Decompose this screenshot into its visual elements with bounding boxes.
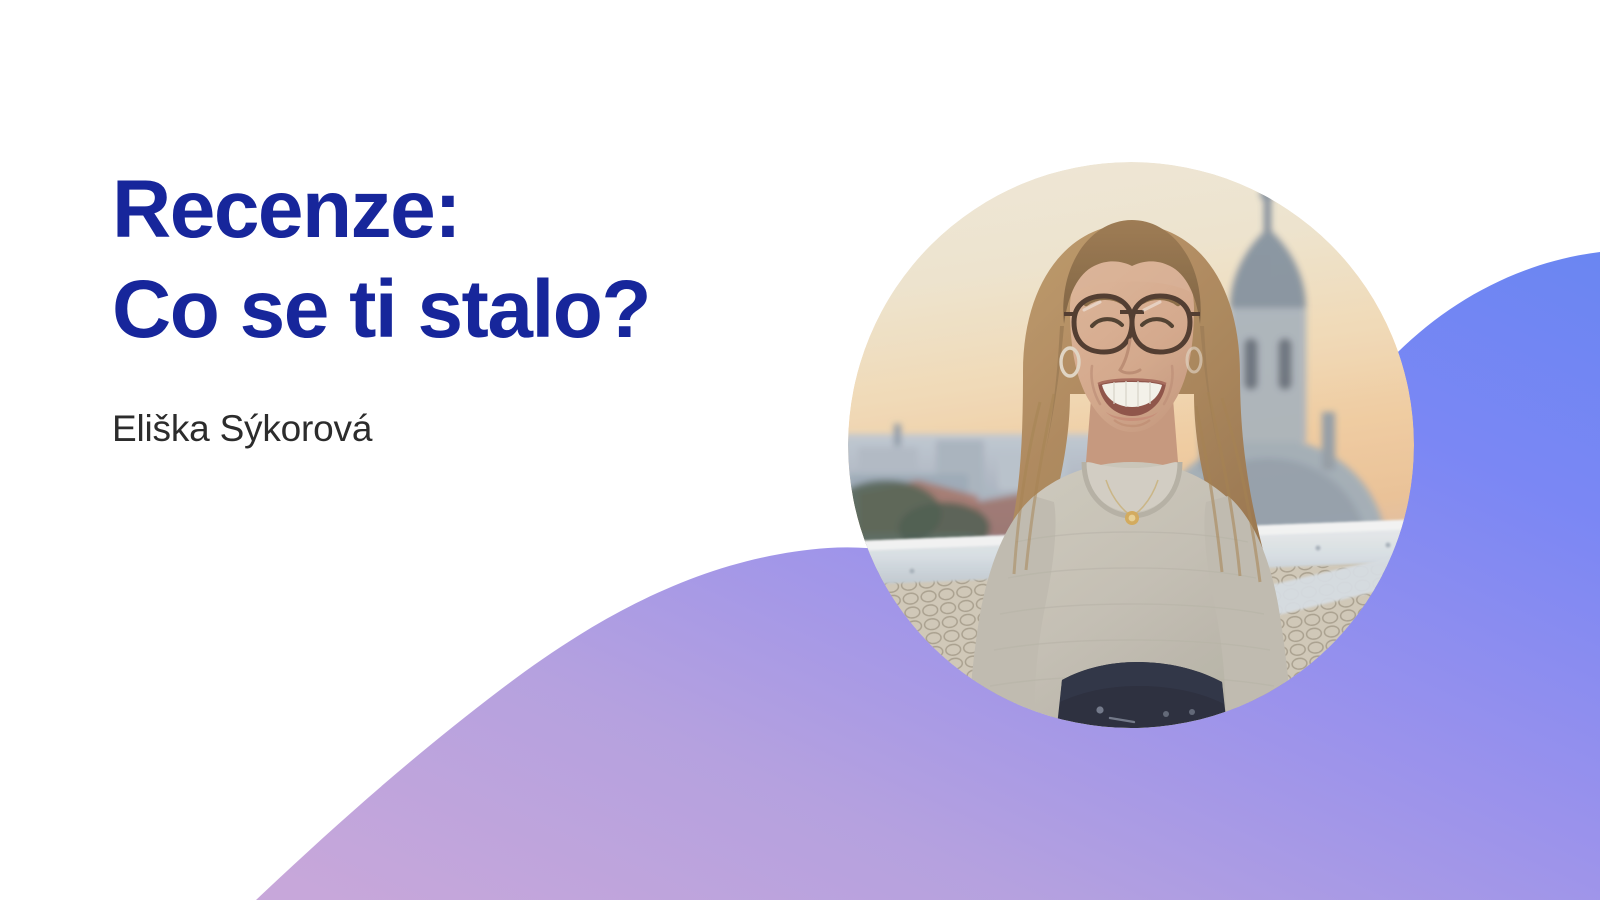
author-photo-circle	[848, 162, 1414, 728]
hero-banner: Recenze: Co se ti stalo? Eliška Sýkorová	[0, 0, 1600, 900]
hero-text-block: Recenze: Co se ti stalo? Eliška Sýkorová	[112, 160, 812, 450]
author-name: Eliška Sýkorová	[112, 408, 812, 450]
page-title-line-1: Recenze:	[112, 160, 812, 260]
page-title-line-2: Co se ti stalo?	[112, 260, 812, 360]
portrait-illustration	[848, 162, 1414, 728]
